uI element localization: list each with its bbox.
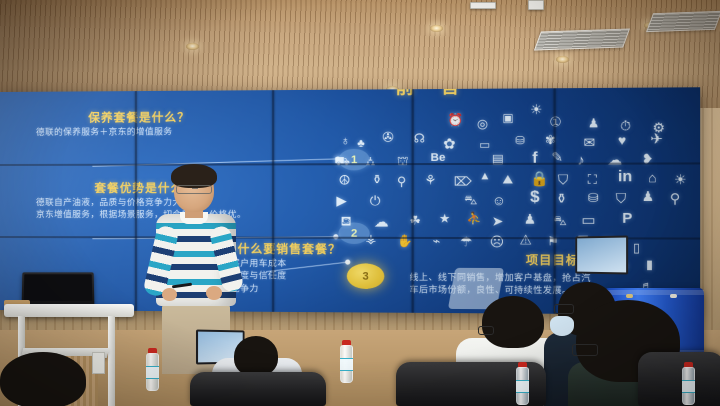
drum-cap <box>670 294 677 298</box>
photo-icon: ⛰ <box>502 173 513 185</box>
wifi-icon: ☊ <box>414 132 425 144</box>
mobile-icon: ▮ <box>646 258 653 271</box>
watch-icon: ⏱ <box>620 119 631 133</box>
bottle-icon: ⚱ <box>372 173 383 185</box>
people-icon: ♟ <box>588 117 600 129</box>
attendee-front-left <box>0 352 100 406</box>
side-laptop[interactable] <box>575 235 628 274</box>
attendee-hair <box>0 352 86 406</box>
project-goal-heading: 项目目标 <box>410 251 580 268</box>
star-icon: ★ <box>439 212 450 224</box>
car2-icon: ⛍ <box>554 214 567 226</box>
peace-icon: ☮ <box>338 173 350 186</box>
dollar-icon: $ <box>530 190 539 207</box>
presenter-right-hand <box>206 286 222 300</box>
slide-number-circle-1[interactable]: 1 <box>338 149 369 171</box>
pin-icon: ⚲ <box>670 192 680 206</box>
smiley-icon: ☺ <box>492 194 506 207</box>
hand-icon: ✋ <box>397 235 413 247</box>
presenter-left-hand <box>162 288 177 301</box>
paper-plane-icon: ➤ <box>492 214 504 227</box>
clock-icon: ① <box>549 115 561 129</box>
message-icon: ▭ <box>479 140 490 151</box>
bell-icon: ⚘ <box>424 173 436 186</box>
bottle-label <box>146 366 159 379</box>
monitor-icon: ▭ <box>581 212 595 227</box>
suitcase-icon: ⛁ <box>588 192 599 204</box>
envelope-icon: ✉ <box>584 136 596 150</box>
user-icon: ♟ <box>524 212 536 225</box>
music-icon: ♪ <box>577 152 585 167</box>
airplane-icon: ✈ <box>650 131 663 146</box>
camera-icon: ▣ <box>502 113 513 124</box>
upload-cloud-icon: ☁ <box>374 214 389 228</box>
circle-3-label: 3 <box>362 270 368 282</box>
slide-number-circle-2[interactable]: 2 <box>338 222 369 244</box>
slide-point-1: 保养套餐是什么？ 德联的保养服务＋京东的增值服务 <box>36 109 190 138</box>
compass-icon: ◎ <box>477 118 488 130</box>
home-icon: ⌂ <box>648 171 656 185</box>
circle-2-label: 2 <box>351 227 357 239</box>
cocktail-icon: ⚲ <box>397 175 406 187</box>
lectern-laptop[interactable] <box>22 272 95 304</box>
attendee-chair <box>638 352 720 406</box>
book-icon: ⛉ <box>558 173 568 186</box>
bottle-label <box>340 358 353 371</box>
pencil-icon: ✎ <box>551 150 563 163</box>
lightbulb-icon: ☀ <box>674 173 687 187</box>
flag-icon: ⚑ <box>547 235 558 247</box>
apple-icon: ✿ <box>443 136 455 150</box>
linkedin-icon: in <box>618 169 632 185</box>
point-1-heading: 保养套餐是什么？ <box>36 109 190 126</box>
lectern-leg <box>108 316 115 406</box>
umbrella-icon: ☂ <box>460 235 472 248</box>
flower-icon: ✾ <box>545 134 556 146</box>
attendee-hair <box>482 296 544 348</box>
plate-icon: ⛉ <box>616 192 627 206</box>
connector-line-1 <box>92 158 338 166</box>
attendee-glasses <box>478 326 494 335</box>
chat-icon: ☹ <box>490 235 504 248</box>
bottle-label <box>682 380 695 393</box>
cctv-icon: ⌦ <box>454 175 472 187</box>
behance-icon: Be <box>431 153 446 164</box>
play-icon: ▶ <box>336 194 346 207</box>
twitter-bird-icon: ❥ <box>642 152 654 166</box>
newspaper-icon: ▤ <box>492 153 504 165</box>
martini-icon: ⚱ <box>556 192 568 205</box>
traffic-cone-icon: ▲ <box>479 171 491 182</box>
car-icon: ⛍ <box>464 194 477 206</box>
person-icon: ♟ <box>642 190 655 204</box>
attendee-chair <box>190 372 326 406</box>
cloud-icon: ☁ <box>607 152 622 167</box>
video-wall-display[interactable]: 前 言 保养套餐是什么？ 德联的保养服务＋京东的增值服务 套餐优势是什么？ 德联… <box>0 87 700 314</box>
bottle-label <box>516 380 529 393</box>
sun-icon: ☀ <box>530 103 542 117</box>
circle-1-label: 1 <box>351 153 357 165</box>
presenter-glasses <box>176 185 212 194</box>
facebook-icon: f <box>532 150 537 166</box>
slide-number-circle-3[interactable]: 3 <box>347 263 385 289</box>
slide-title: 前 言 <box>359 87 506 100</box>
tablet-icon: ▯ <box>633 242 640 254</box>
bank-icon: ⛫ <box>397 155 409 167</box>
laptop-screen <box>24 274 93 301</box>
point-1-body: 德联的保养服务＋京东的增值服务 <box>36 125 190 138</box>
people-group-icon: ⛹ <box>466 212 482 224</box>
gear-icon: ⚙ <box>652 121 665 135</box>
briefcase-icon: ⛁ <box>515 136 525 147</box>
warning-icon: ⚠ <box>519 233 531 246</box>
heart-icon: ♥ <box>618 133 626 147</box>
power-icon: ⏻ <box>370 194 381 207</box>
parking-icon: P <box>622 210 632 225</box>
tree-icon: ♣ <box>357 139 365 150</box>
image-icon: ⛶ <box>588 173 597 185</box>
balloon-icon: ♁ <box>341 135 350 147</box>
attendee-glasses <box>572 344 598 356</box>
alarm-clock-icon: ⏰ <box>447 114 463 126</box>
paperclip-icon: ✇ <box>382 130 393 143</box>
lock-icon: 🔒 <box>530 171 549 185</box>
leaf-icon: ☘ <box>410 214 421 226</box>
presentation-scene: 前 言 保养套餐是什么？ 德联的保养服务＋京东的增值服务 套餐优势是什么？ 德联… <box>0 0 720 406</box>
bluetooth-icon: ⌁ <box>433 235 441 247</box>
slide-canvas: 前 言 保养套餐是什么？ 德联的保养服务＋京东的增值服务 套餐优势是什么？ 德联… <box>0 87 700 314</box>
laptop-screen <box>577 238 626 273</box>
